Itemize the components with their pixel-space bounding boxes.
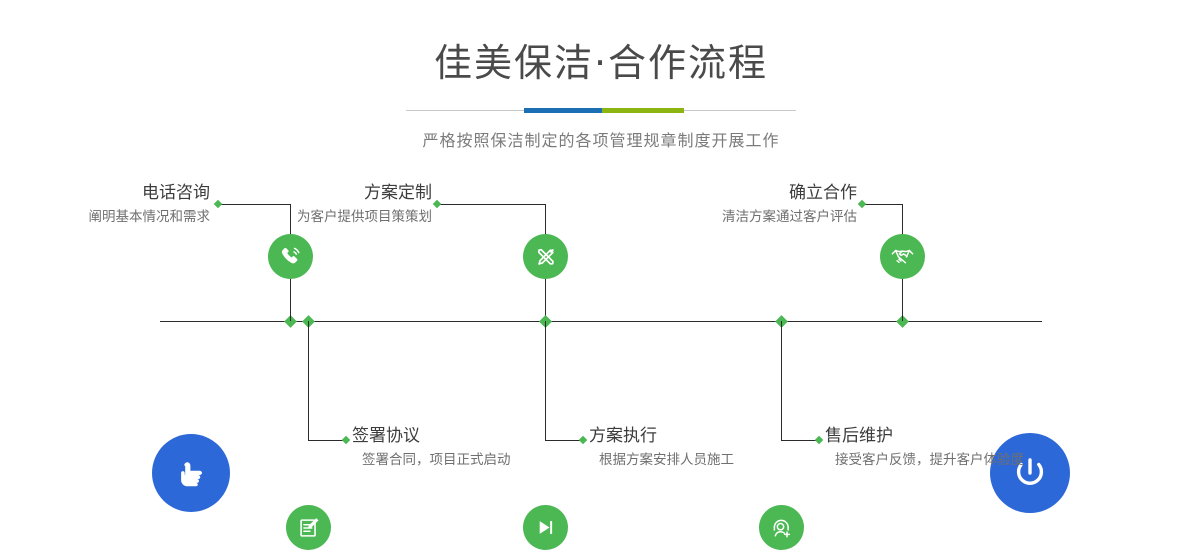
step-icon-6[interactable] xyxy=(759,505,804,550)
connector-vertical-2 xyxy=(308,321,309,440)
header: 佳美保洁·合作流程 严格按照保洁制定的各项管理规章制度开展工作 xyxy=(0,0,1202,151)
document-pen-icon xyxy=(296,515,322,541)
step-title-1: 电话咨询 xyxy=(0,183,210,204)
process-flow-diagram: 电话咨询 阐明基本情况和需求 签署协议 签署合同，项目正式启动 xyxy=(0,150,1202,502)
step-desc-5: 清洁方案通过客户评估 xyxy=(607,209,857,227)
headset-add-icon xyxy=(769,515,795,541)
connector-horizontal-4 xyxy=(545,440,581,441)
step-icon-1[interactable] xyxy=(268,234,313,279)
page-subtitle: 严格按照保洁制定的各项管理规章制度开展工作 xyxy=(0,113,1202,151)
step-desc-1: 阐明基本情况和需求 xyxy=(0,209,210,227)
connector-vertical-4 xyxy=(545,321,546,440)
connector-horizontal-2 xyxy=(308,440,344,441)
step-icon-5[interactable] xyxy=(880,234,925,279)
connector-horizontal-5 xyxy=(862,204,902,205)
step-icon-3[interactable] xyxy=(523,234,568,279)
divider-blue-segment xyxy=(524,108,602,113)
step-label-5: 确立合作 清洁方案通过客户评估 xyxy=(607,183,857,227)
page-title: 佳美保洁·合作流程 xyxy=(0,0,1202,82)
step-title-6: 售后维护 xyxy=(825,426,1125,447)
label-marker-3 xyxy=(433,200,441,208)
step-label-1: 电话咨询 阐明基本情况和需求 xyxy=(0,183,210,227)
step-label-3: 方案定制 为客户提供项目策策划 xyxy=(182,183,432,227)
step-title-2: 签署协议 xyxy=(352,426,612,447)
step-label-4: 方案执行 根据方案安排人员施工 xyxy=(589,426,849,470)
pointing-hand-icon xyxy=(171,453,211,493)
step-title-4: 方案执行 xyxy=(589,426,849,447)
phone-call-icon xyxy=(277,243,304,270)
pencil-ruler-icon xyxy=(533,244,559,270)
step-label-2: 签署协议 签署合同，项目正式启动 xyxy=(352,426,612,470)
step-title-5: 确立合作 xyxy=(607,183,857,204)
connector-horizontal-6 xyxy=(781,440,817,441)
step-desc-6: 接受客户反馈，提升客户体验度 xyxy=(835,452,1125,470)
connector-vertical-6 xyxy=(781,321,782,440)
step-icon-4[interactable] xyxy=(523,505,568,550)
flow-start-node[interactable] xyxy=(152,434,230,512)
handshake-icon xyxy=(889,243,916,270)
step-title-3: 方案定制 xyxy=(182,183,432,204)
title-divider xyxy=(406,108,796,113)
label-marker-2 xyxy=(342,436,350,444)
connector-horizontal-3 xyxy=(437,204,545,205)
divider-green-segment xyxy=(602,108,684,113)
step-icon-2[interactable] xyxy=(286,505,331,550)
step-desc-4: 根据方案安排人员施工 xyxy=(599,452,849,470)
step-label-6: 售后维护 接受客户反馈，提升客户体验度 xyxy=(825,426,1125,470)
step-desc-3: 为客户提供项目策策划 xyxy=(182,209,432,227)
label-marker-5 xyxy=(858,200,866,208)
infographic-root: 佳美保洁·合作流程 严格按照保洁制定的各项管理规章制度开展工作 xyxy=(0,0,1202,502)
play-skip-icon xyxy=(533,515,558,540)
step-desc-2: 签署合同，项目正式启动 xyxy=(362,452,612,470)
